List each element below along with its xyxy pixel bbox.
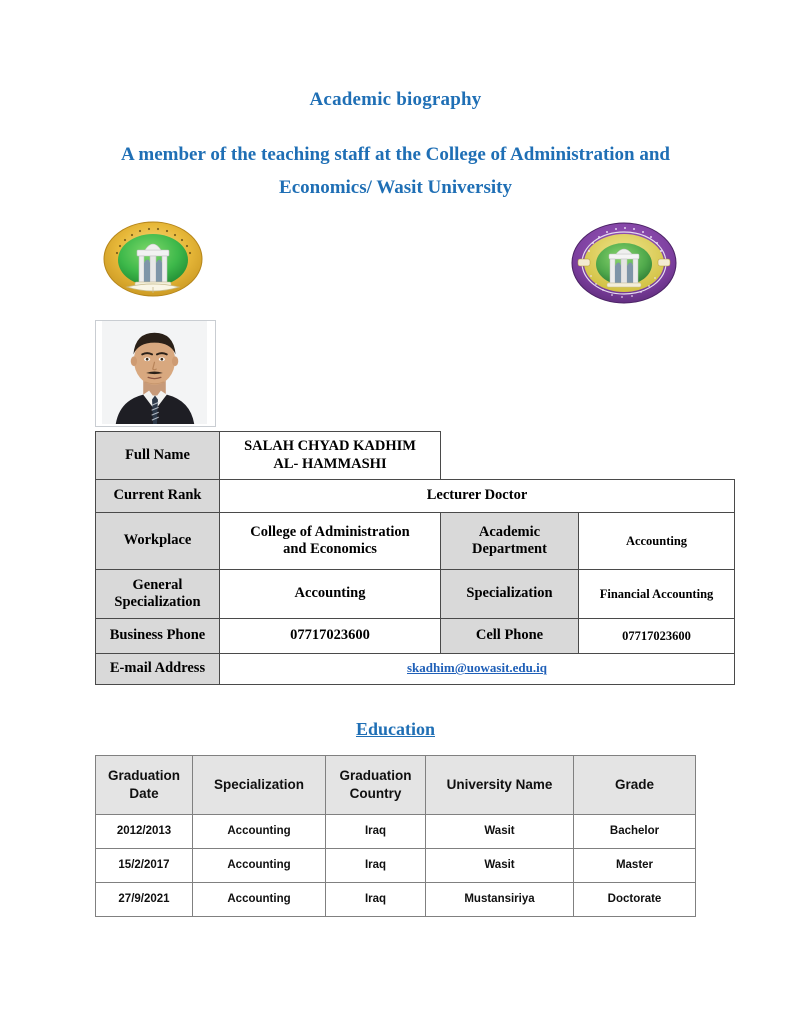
page-subtitle: A member of the teaching staff at the Co… [0, 138, 791, 205]
graduation-date-line1: Graduation [98, 767, 190, 785]
college-logo-graphic [563, 218, 685, 308]
graduation-country-line1: Graduation [328, 767, 423, 785]
cell-university-name: Wasit [426, 849, 574, 883]
document-page: Academic biography A member of the teach… [0, 0, 791, 1024]
graduation-date-line2: Date [98, 785, 190, 803]
wasit-university-logo [93, 218, 213, 306]
column-header-university-name: University Name [426, 756, 574, 815]
cell-graduation-country: Iraq [326, 849, 426, 883]
cell-grade: Master [574, 849, 696, 883]
education-section-heading: Education [0, 719, 791, 740]
portrait-photo [96, 321, 213, 424]
label-full-name: Full Name [96, 432, 220, 480]
full-name-line1: SALAH CHYAD KADHIM [224, 438, 436, 455]
document-header: Academic biography A member of the teach… [0, 90, 791, 204]
table-row-current-rank: Current Rank Lecturer Doctor [96, 480, 735, 513]
label-email-address: E-mail Address [96, 654, 220, 685]
label-current-rank: Current Rank [96, 480, 220, 513]
cell-specialization: Accounting [193, 849, 326, 883]
blank-cell-name-row [441, 432, 735, 480]
wasit-university-logo-graphic [93, 218, 213, 306]
label-academic-department: Academic Department [441, 513, 579, 570]
table-row-phones: Business Phone 07717023600 Cell Phone 07… [96, 619, 735, 654]
workplace-line2: and Economics [224, 541, 436, 558]
cell-specialization: Accounting [193, 815, 326, 849]
cell-university-name: Mustansiriya [426, 883, 574, 917]
value-general-specialization: Accounting [220, 570, 441, 619]
table-row: 27/9/2021 Accounting Iraq Mustansiriya D… [96, 883, 696, 917]
workplace-line1: College of Administration [224, 524, 436, 541]
cell-university-name: Wasit [426, 815, 574, 849]
value-cell-phone: 07717023600 [579, 619, 735, 654]
label-specialization: Specialization [441, 570, 579, 619]
avatar [95, 320, 216, 427]
cell-graduation-country: Iraq [326, 815, 426, 849]
table-row-email: E-mail Address skadhim@uowasit.edu.iq [96, 654, 735, 685]
value-current-rank: Lecturer Doctor [220, 480, 735, 513]
value-academic-department: Accounting [579, 513, 735, 570]
value-full-name: SALAH CHYAD KADHIM AL- HAMMASHI [220, 432, 441, 480]
cell-specialization: Accounting [193, 883, 326, 917]
general-spec-line2: Specialization [100, 594, 215, 611]
cell-graduation-date: 15/2/2017 [96, 849, 193, 883]
full-name-line2: AL- HAMMASHI [224, 456, 436, 473]
column-header-grade: Grade [574, 756, 696, 815]
value-email-address: skadhim@uowasit.edu.iq [220, 654, 735, 685]
value-specialization: Financial Accounting [579, 570, 735, 619]
graduation-country-line2: Country [328, 785, 423, 803]
table-row-full-name: Full Name SALAH CHYAD KADHIM AL- HAMMASH… [96, 432, 735, 480]
page-title: Academic biography [0, 90, 791, 111]
table-row: 2012/2013 Accounting Iraq Wasit Bachelor [96, 815, 696, 849]
cell-graduation-country: Iraq [326, 883, 426, 917]
college-of-administration-and-economics-logo [563, 218, 685, 308]
label-workplace: Workplace [96, 513, 220, 570]
faculty-info-table: Full Name SALAH CHYAD KADHIM AL- HAMMASH… [95, 431, 735, 685]
table-row-general-specialization: General Specialization Accounting Specia… [96, 570, 735, 619]
cell-graduation-date: 2012/2013 [96, 815, 193, 849]
cell-grade: Doctorate [574, 883, 696, 917]
label-business-phone: Business Phone [96, 619, 220, 654]
table-row-workplace: Workplace College of Administration and … [96, 513, 735, 570]
education-table-header-row: Graduation Date Specialization Graduatio… [96, 756, 696, 815]
column-header-graduation-country: Graduation Country [326, 756, 426, 815]
column-header-graduation-date: Graduation Date [96, 756, 193, 815]
value-workplace: College of Administration and Economics [220, 513, 441, 570]
label-cell-phone: Cell Phone [441, 619, 579, 654]
cell-graduation-date: 27/9/2021 [96, 883, 193, 917]
academic-department-line1: Academic [445, 524, 574, 541]
value-business-phone: 07717023600 [220, 619, 441, 654]
academic-department-line2: Department [445, 541, 574, 558]
email-link[interactable]: skadhim@uowasit.edu.iq [407, 660, 547, 675]
column-header-specialization: Specialization [193, 756, 326, 815]
cell-grade: Bachelor [574, 815, 696, 849]
label-general-specialization: General Specialization [96, 570, 220, 619]
general-spec-line1: General [100, 577, 215, 594]
table-row: 15/2/2017 Accounting Iraq Wasit Master [96, 849, 696, 883]
education-table: Graduation Date Specialization Graduatio… [95, 755, 696, 917]
